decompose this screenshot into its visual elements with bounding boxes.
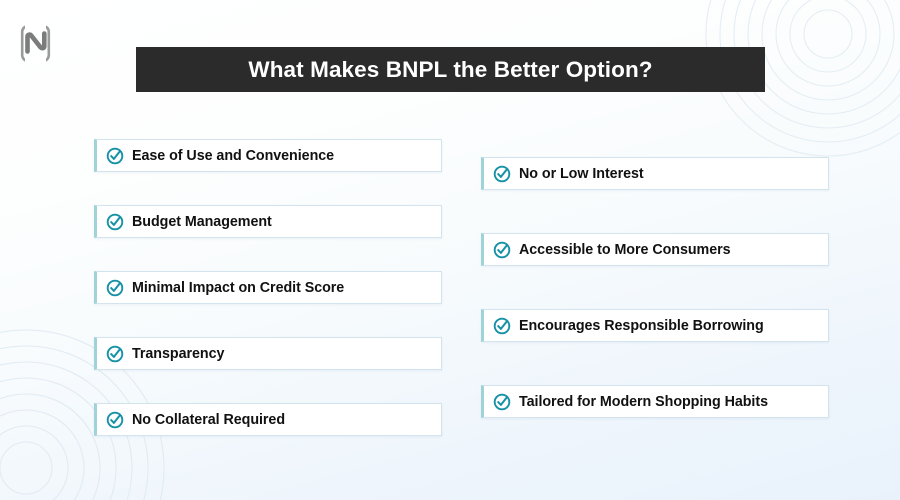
- check-circle-icon: [493, 241, 511, 259]
- check-circle-icon: [106, 279, 124, 297]
- title-banner: What Makes BNPL the Better Option?: [136, 47, 765, 92]
- check-circle-icon: [106, 411, 124, 429]
- check-circle-icon: [106, 213, 124, 231]
- check-circle-icon: [106, 147, 124, 165]
- page-title: What Makes BNPL the Better Option?: [248, 57, 652, 83]
- benefit-label: No Collateral Required: [132, 412, 285, 428]
- check-circle-icon: [493, 165, 511, 183]
- benefit-item[interactable]: No or Low Interest: [481, 157, 829, 190]
- benefit-label: Minimal Impact on Credit Score: [132, 280, 344, 296]
- infographic-canvas: What Makes BNPL the Better Option? Ease …: [0, 0, 900, 500]
- benefit-item[interactable]: Minimal Impact on Credit Score: [94, 271, 442, 304]
- benefit-item[interactable]: Tailored for Modern Shopping Habits: [481, 385, 829, 418]
- benefit-label: Ease of Use and Convenience: [132, 148, 334, 164]
- benefit-item[interactable]: Accessible to More Consumers: [481, 233, 829, 266]
- check-circle-icon: [106, 345, 124, 363]
- benefit-label: Encourages Responsible Borrowing: [519, 318, 764, 334]
- benefit-item[interactable]: Budget Management: [94, 205, 442, 238]
- benefit-label: Accessible to More Consumers: [519, 242, 731, 258]
- benefit-item[interactable]: Ease of Use and Convenience: [94, 139, 442, 172]
- nexus-rounded-square-logo-icon[interactable]: [20, 24, 51, 63]
- benefit-item[interactable]: Encourages Responsible Borrowing: [481, 309, 829, 342]
- benefit-label: Budget Management: [132, 214, 272, 230]
- benefits-column-left: Ease of Use and Convenience Budget Manag…: [94, 139, 442, 469]
- benefit-label: No or Low Interest: [519, 166, 644, 182]
- benefits-column-right: No or Low Interest Accessible to More Co…: [481, 157, 829, 461]
- benefit-label: Tailored for Modern Shopping Habits: [519, 394, 768, 410]
- benefit-item[interactable]: No Collateral Required: [94, 403, 442, 436]
- check-circle-icon: [493, 317, 511, 335]
- benefit-item[interactable]: Transparency: [94, 337, 442, 370]
- check-circle-icon: [493, 393, 511, 411]
- benefit-label: Transparency: [132, 346, 224, 362]
